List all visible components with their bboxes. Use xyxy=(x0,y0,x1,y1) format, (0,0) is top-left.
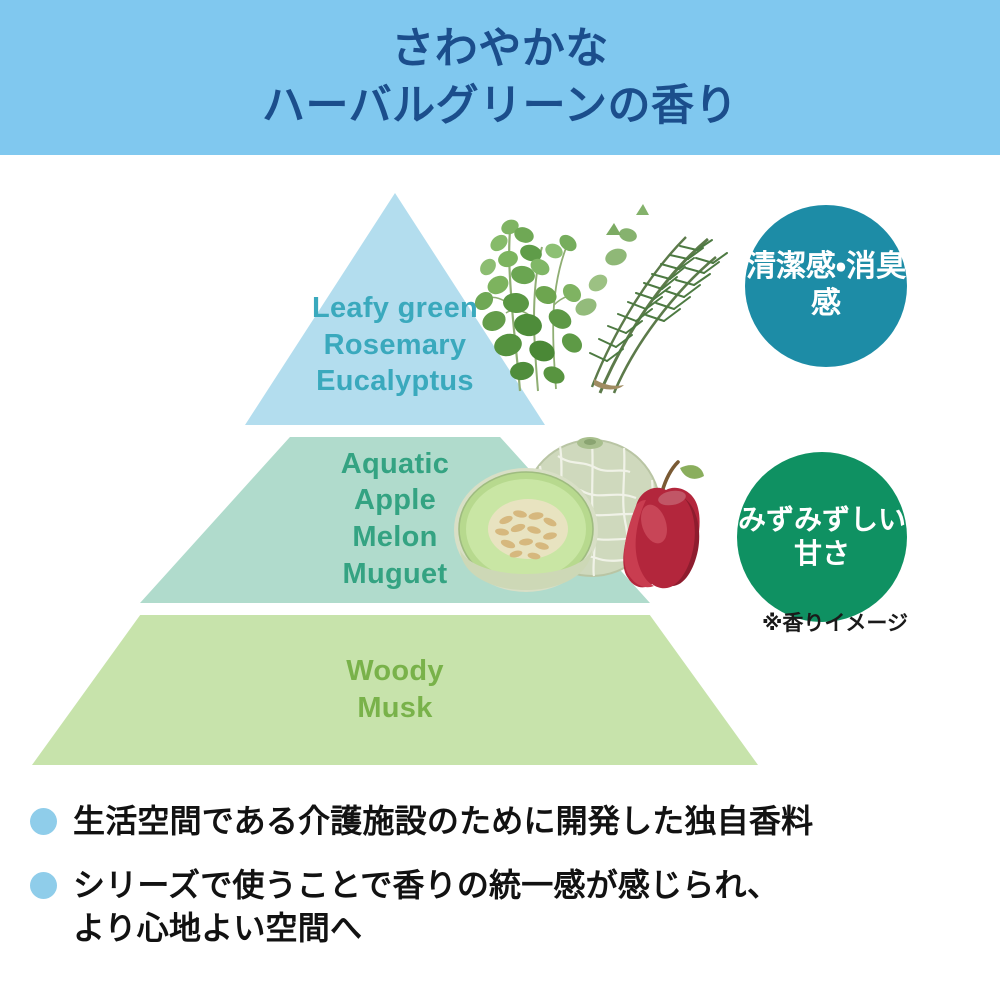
bullet-dot-icon xyxy=(30,872,57,899)
pyramid-tier-middle-notes: Aquatic Apple Melon Muguet xyxy=(341,446,449,594)
note-musk: Musk xyxy=(346,690,444,727)
herbs-illustration xyxy=(468,195,730,395)
bullet-text-1: 生活空間である介護施設のために開発した独自香料 xyxy=(73,800,813,844)
fragrance-image-note: ※香りイメージ xyxy=(745,607,925,637)
badge-clean-deodorize: 清潔感・消臭感 xyxy=(745,205,907,367)
fragrance-pyramid-infographic: さわやかな ハーバルグリーンの香り Leafy green Rosemary E… xyxy=(0,0,1000,1000)
header-title-line-2: ハーバルグリーンの香り xyxy=(262,78,738,135)
note-woody: Woody xyxy=(346,653,444,690)
header-band: さわやかな ハーバルグリーンの香り xyxy=(0,0,1000,155)
pyramid-tier-bottom-notes: Woody Musk xyxy=(346,653,444,726)
note-melon: Melon xyxy=(341,519,449,556)
eucalyptus-sprigs xyxy=(471,217,586,391)
pyramid-tier-top-notes: Leafy green Rosemary Eucalyptus xyxy=(312,218,478,400)
fruit-illustration xyxy=(440,432,712,610)
note-aquatic: Aquatic xyxy=(341,446,449,483)
badge-clean-label: 清潔感・消臭感 xyxy=(745,249,907,322)
bullet-2-line-1: シリーズで使うことで香りの統一感が感じられ、 xyxy=(73,864,779,908)
list-item: シリーズで使うことで香りの統一感が感じられ、 より心地よい空間へ xyxy=(30,864,980,951)
badge-juicy-sweetness: みずみずしい甘さ xyxy=(737,452,907,622)
note-muguet: Muguet xyxy=(341,556,449,593)
rosemary-sprigs xyxy=(573,204,727,393)
badge-sweet-label: みずみずしい甘さ xyxy=(737,503,907,571)
half-melon xyxy=(454,468,598,592)
fruit-photo xyxy=(440,432,712,610)
note-eucalyptus: Eucalyptus xyxy=(312,363,478,400)
header-title-line-1: さわやかな xyxy=(391,21,609,78)
pyramid-tier-bottom: Woody Musk xyxy=(32,615,758,765)
bullet-2-line-2: より心地よい空間へ xyxy=(73,907,779,951)
feature-bullet-list: 生活空間である介護施設のために開発した独自香料 シリーズで使うことで香りの統一感… xyxy=(30,800,980,971)
herbs-photo xyxy=(468,195,730,395)
bullet-dot-icon xyxy=(30,808,57,835)
bullet-1-line-1: 生活空間である介護施設のために開発した独自香料 xyxy=(73,800,813,844)
note-leafy-green: Leafy green xyxy=(312,290,478,327)
note-rosemary: Rosemary xyxy=(312,327,478,364)
note-apple: Apple xyxy=(341,482,449,519)
list-item: 生活空間である介護施設のために開発した独自香料 xyxy=(30,800,980,844)
bullet-text-2: シリーズで使うことで香りの統一感が感じられ、 より心地よい空間へ xyxy=(73,864,779,951)
